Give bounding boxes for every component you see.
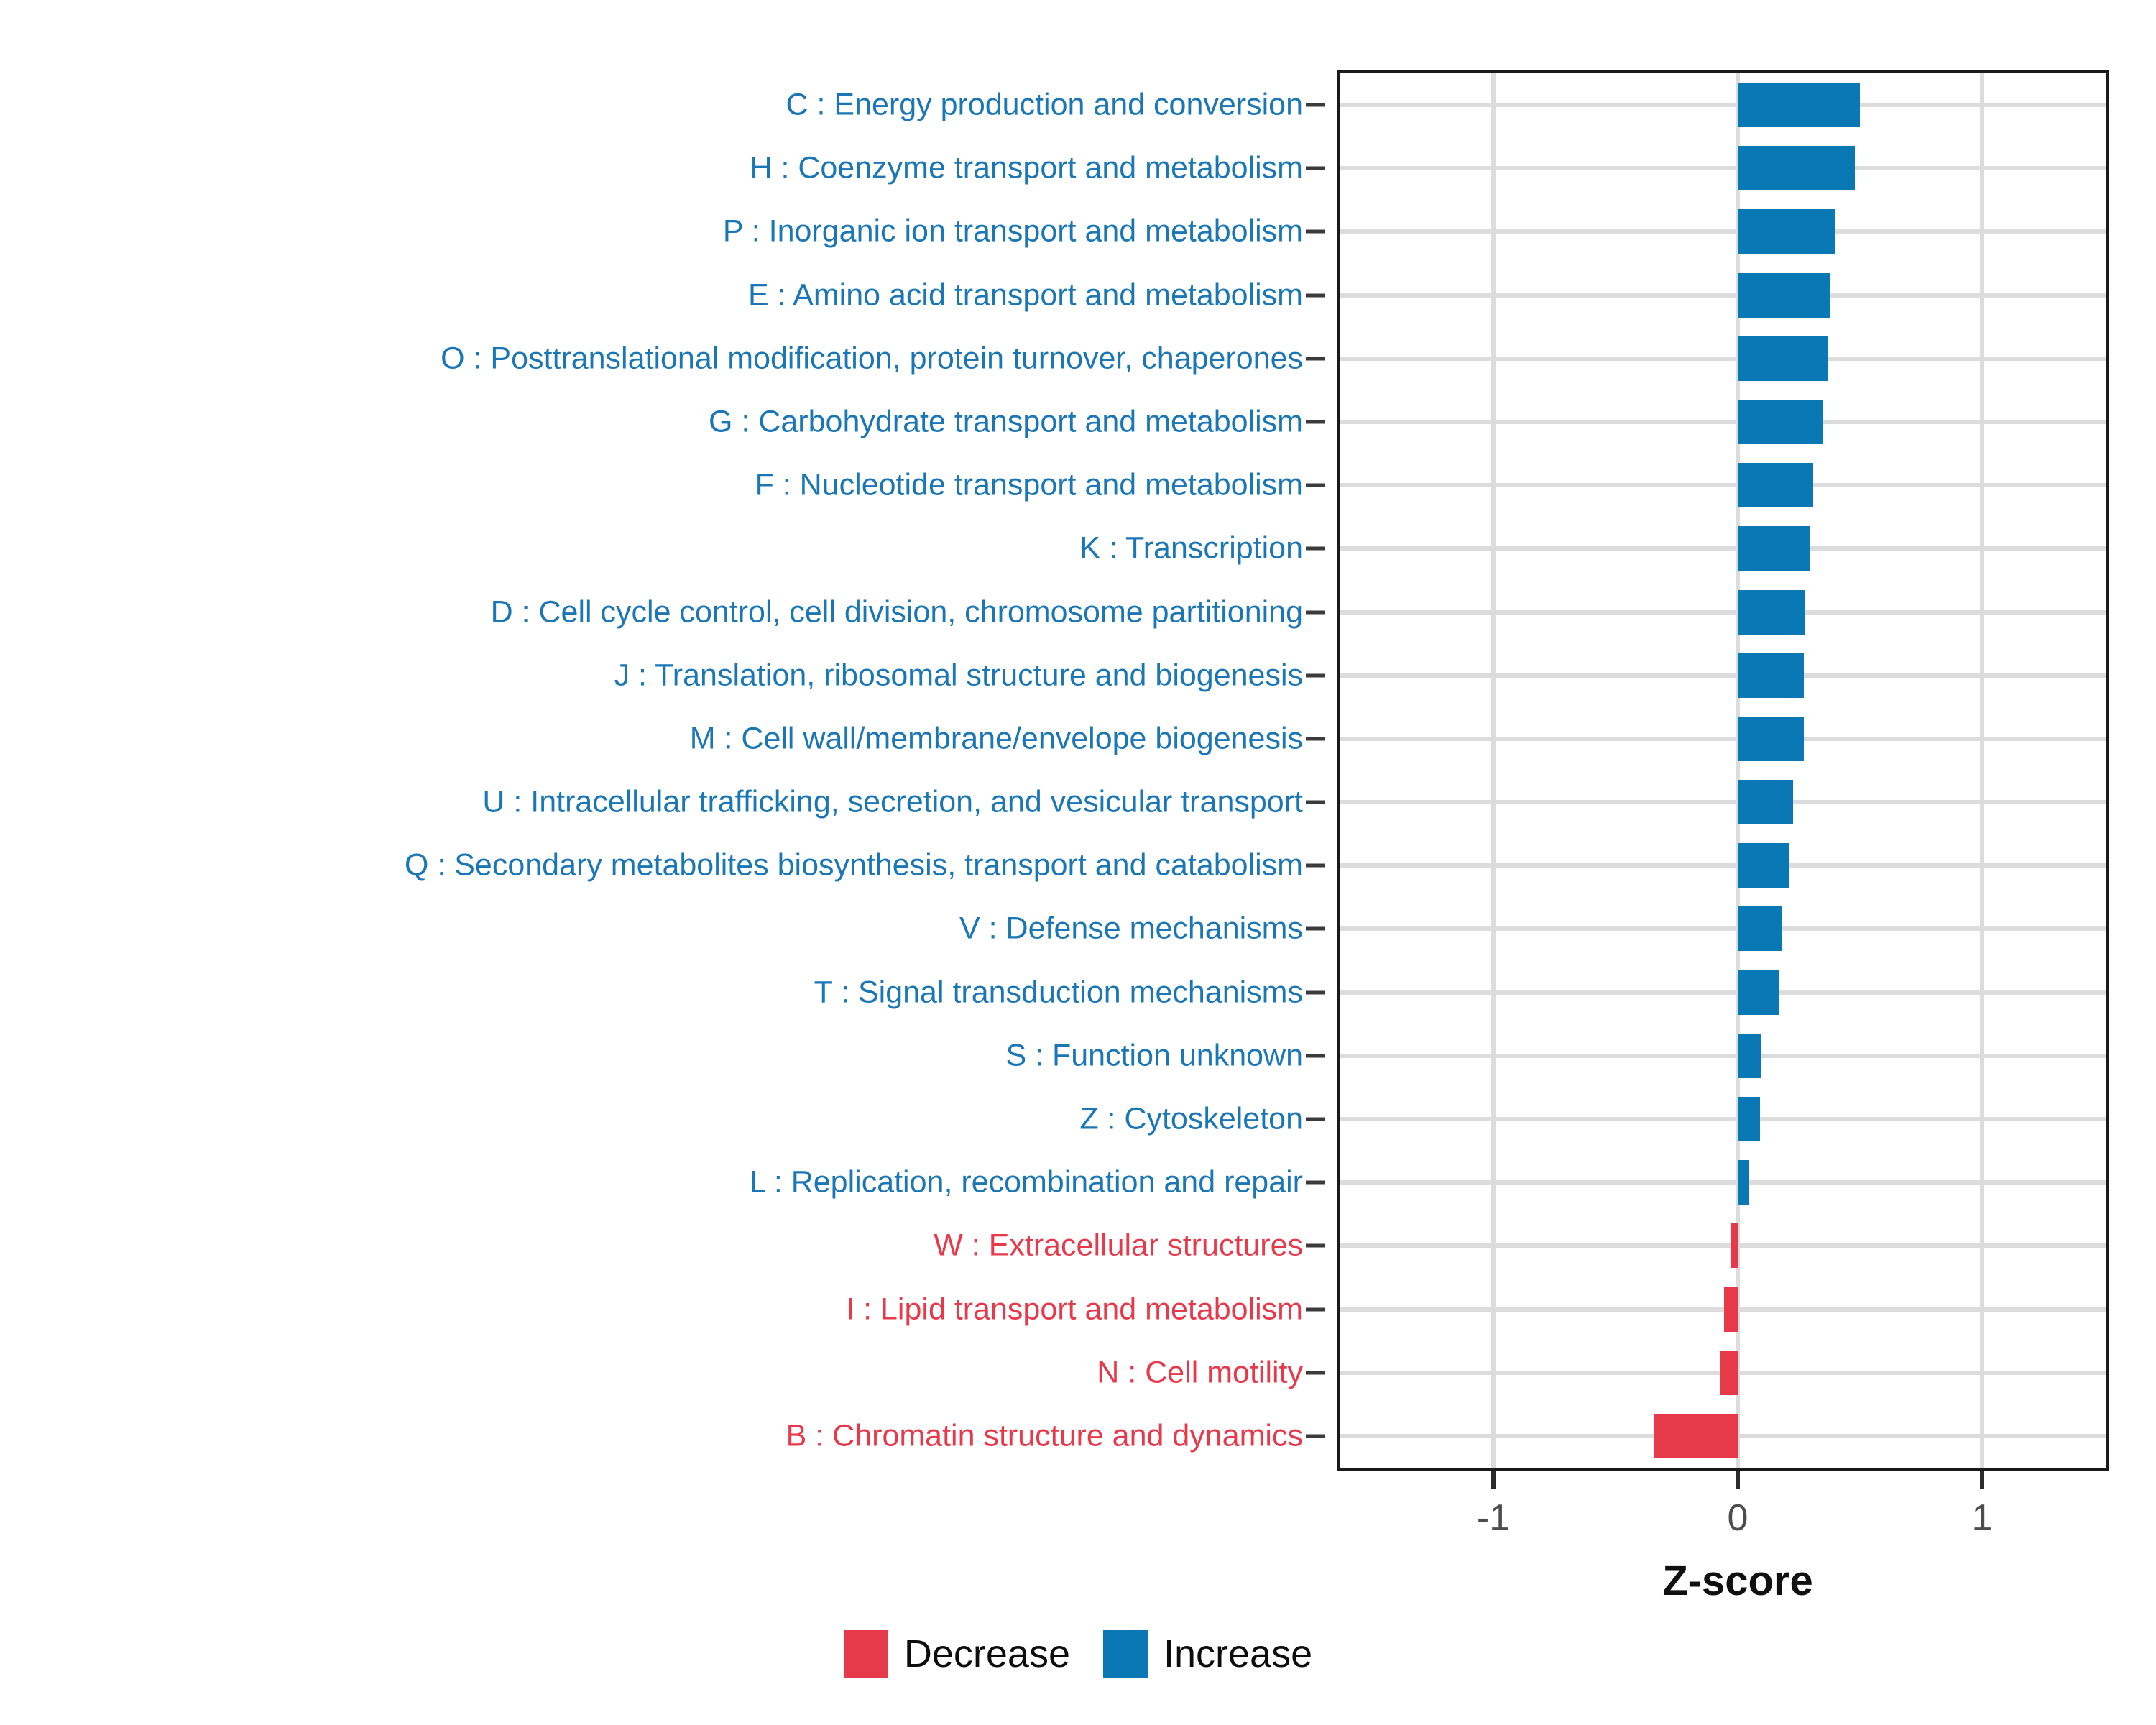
bar xyxy=(1738,1034,1761,1078)
x-axis-tick xyxy=(1980,1471,1984,1489)
y-axis-tick xyxy=(1306,610,1325,614)
y-axis-label: Q : Secondary metabolites biosynthesis, … xyxy=(405,850,1303,881)
y-axis-tick xyxy=(1306,293,1325,297)
grid-line-horizontal xyxy=(1340,926,2106,931)
legend-label: Increase xyxy=(1164,1634,1312,1673)
bar xyxy=(1738,209,1835,254)
y-axis-label-group: C : Energy production and conversionH : … xyxy=(0,70,1333,1471)
legend-item[interactable]: Increase xyxy=(1103,1630,1312,1678)
legend-label: Decrease xyxy=(904,1634,1070,1673)
bar xyxy=(1738,526,1810,571)
bar xyxy=(1738,843,1789,888)
bar xyxy=(1654,1414,1738,1458)
y-axis-tick xyxy=(1306,484,1325,487)
grid-line-horizontal xyxy=(1340,1307,2106,1312)
y-axis-tick xyxy=(1306,167,1325,170)
y-axis-tick xyxy=(1306,673,1325,677)
y-axis-label: J : Translation, ribosomal structure and… xyxy=(614,660,1303,691)
grid-line-horizontal xyxy=(1340,356,2106,361)
y-axis-tick xyxy=(1306,737,1325,740)
bar xyxy=(1738,1097,1760,1141)
grid-line-horizontal xyxy=(1340,1180,2106,1184)
legend-swatch-icon xyxy=(844,1630,888,1678)
y-axis-tick xyxy=(1306,230,1325,234)
y-axis-label: W : Extracellular structures xyxy=(934,1230,1303,1261)
y-axis-tick xyxy=(1306,1244,1325,1248)
bar xyxy=(1738,780,1793,824)
y-axis-tick xyxy=(1306,1181,1325,1184)
y-axis-label: Z : Cytoskeleton xyxy=(1079,1104,1303,1135)
bar xyxy=(1738,83,1860,127)
grid-line-horizontal xyxy=(1340,103,2106,107)
x-axis-tick xyxy=(1491,1471,1496,1489)
y-axis-label: M : Cell wall/membrane/envelope biogenes… xyxy=(690,723,1303,754)
bar xyxy=(1738,906,1782,951)
y-axis-label: E : Amino acid transport and metabolism xyxy=(748,280,1303,310)
bar xyxy=(1738,590,1805,635)
y-axis-tick xyxy=(1306,547,1325,551)
y-axis-tick xyxy=(1306,1371,1325,1374)
y-axis-label: N : Cell motility xyxy=(1097,1357,1303,1388)
bar xyxy=(1720,1351,1738,1395)
legend-swatch-icon xyxy=(1103,1630,1148,1678)
y-axis-tick xyxy=(1306,801,1325,804)
bar xyxy=(1738,336,1828,381)
bar xyxy=(1738,273,1830,318)
y-axis-label: I : Lipid transport and metabolism xyxy=(846,1294,1303,1325)
grid-line-horizontal xyxy=(1340,166,2106,170)
y-axis-tick xyxy=(1306,1118,1325,1121)
y-axis-label: F : Nucleotide transport and metabolism xyxy=(755,470,1303,501)
bar xyxy=(1724,1287,1738,1332)
y-axis-label: D : Cell cycle control, cell division, c… xyxy=(491,597,1303,627)
grid-line-vertical xyxy=(1491,73,1496,1468)
legend-item[interactable]: Decrease xyxy=(844,1630,1070,1678)
y-axis-tick xyxy=(1306,356,1325,360)
grid-line-horizontal xyxy=(1340,737,2106,741)
y-axis-tick xyxy=(1306,103,1325,107)
y-axis-tick xyxy=(1306,990,1325,994)
plot-panel xyxy=(1337,70,2109,1471)
x-axis-tick xyxy=(1736,1471,1740,1489)
x-axis-tick-label: -1 xyxy=(1477,1496,1510,1540)
x-axis-tick-label: 0 xyxy=(1728,1496,1749,1540)
bar xyxy=(1738,1160,1749,1205)
y-axis-tick xyxy=(1306,1307,1325,1311)
grid-line-horizontal xyxy=(1340,610,2106,615)
grid-line-horizontal xyxy=(1340,1054,2106,1058)
grid-line-horizontal xyxy=(1340,673,2106,678)
y-axis-label: V : Defense mechanisms xyxy=(959,914,1303,944)
bar xyxy=(1738,970,1779,1015)
x-axis-tick-label: 1 xyxy=(1972,1496,1993,1540)
chart-legend: DecreaseIncrease xyxy=(0,1630,2156,1678)
y-axis-tick xyxy=(1306,927,1325,931)
y-axis-label: T : Signal transduction mechanisms xyxy=(814,977,1303,1008)
bar xyxy=(1738,653,1804,698)
grid-line-horizontal xyxy=(1340,800,2106,804)
grid-line-horizontal xyxy=(1340,863,2106,868)
y-axis-label: K : Transcription xyxy=(1079,533,1303,564)
y-axis-tick xyxy=(1306,420,1325,424)
chart-figure: C : Energy production and conversionH : … xyxy=(0,0,2156,1725)
bar xyxy=(1738,146,1855,190)
y-axis-label: P : Inorganic ion transport and metaboli… xyxy=(723,216,1303,247)
grid-line-horizontal xyxy=(1340,1243,2106,1248)
grid-line-horizontal xyxy=(1340,483,2106,487)
grid-line-horizontal xyxy=(1340,293,2106,298)
grid-line-horizontal xyxy=(1340,546,2106,551)
bar xyxy=(1731,1223,1738,1268)
y-axis-label: C : Energy production and conversion xyxy=(786,90,1303,121)
bar xyxy=(1738,400,1823,444)
grid-line-horizontal xyxy=(1340,229,2106,234)
y-axis-label: G : Carbohydrate transport and metabolis… xyxy=(709,407,1303,438)
y-axis-label: U : Intracellular trafficking, secretion… xyxy=(482,787,1303,818)
y-axis-tick xyxy=(1306,1434,1325,1437)
x-axis-title: Z-score xyxy=(1662,1557,1813,1605)
y-axis-label: B : Chromatin structure and dynamics xyxy=(786,1420,1303,1451)
y-axis-tick xyxy=(1306,1054,1325,1057)
grid-line-horizontal xyxy=(1340,420,2106,424)
y-axis-label: L : Replication, recombination and repai… xyxy=(750,1167,1303,1198)
y-axis-label: O : Posttranslational modification, prot… xyxy=(441,343,1303,374)
grid-line-horizontal xyxy=(1340,990,2106,995)
grid-line-vertical xyxy=(1980,73,1984,1468)
y-axis-tick xyxy=(1306,864,1325,868)
y-axis-label: S : Function unknown xyxy=(1005,1040,1303,1071)
bar xyxy=(1738,717,1804,761)
y-axis-label: H : Coenzyme transport and metabolism xyxy=(750,153,1303,184)
bar xyxy=(1738,463,1813,507)
grid-line-horizontal xyxy=(1340,1117,2106,1121)
